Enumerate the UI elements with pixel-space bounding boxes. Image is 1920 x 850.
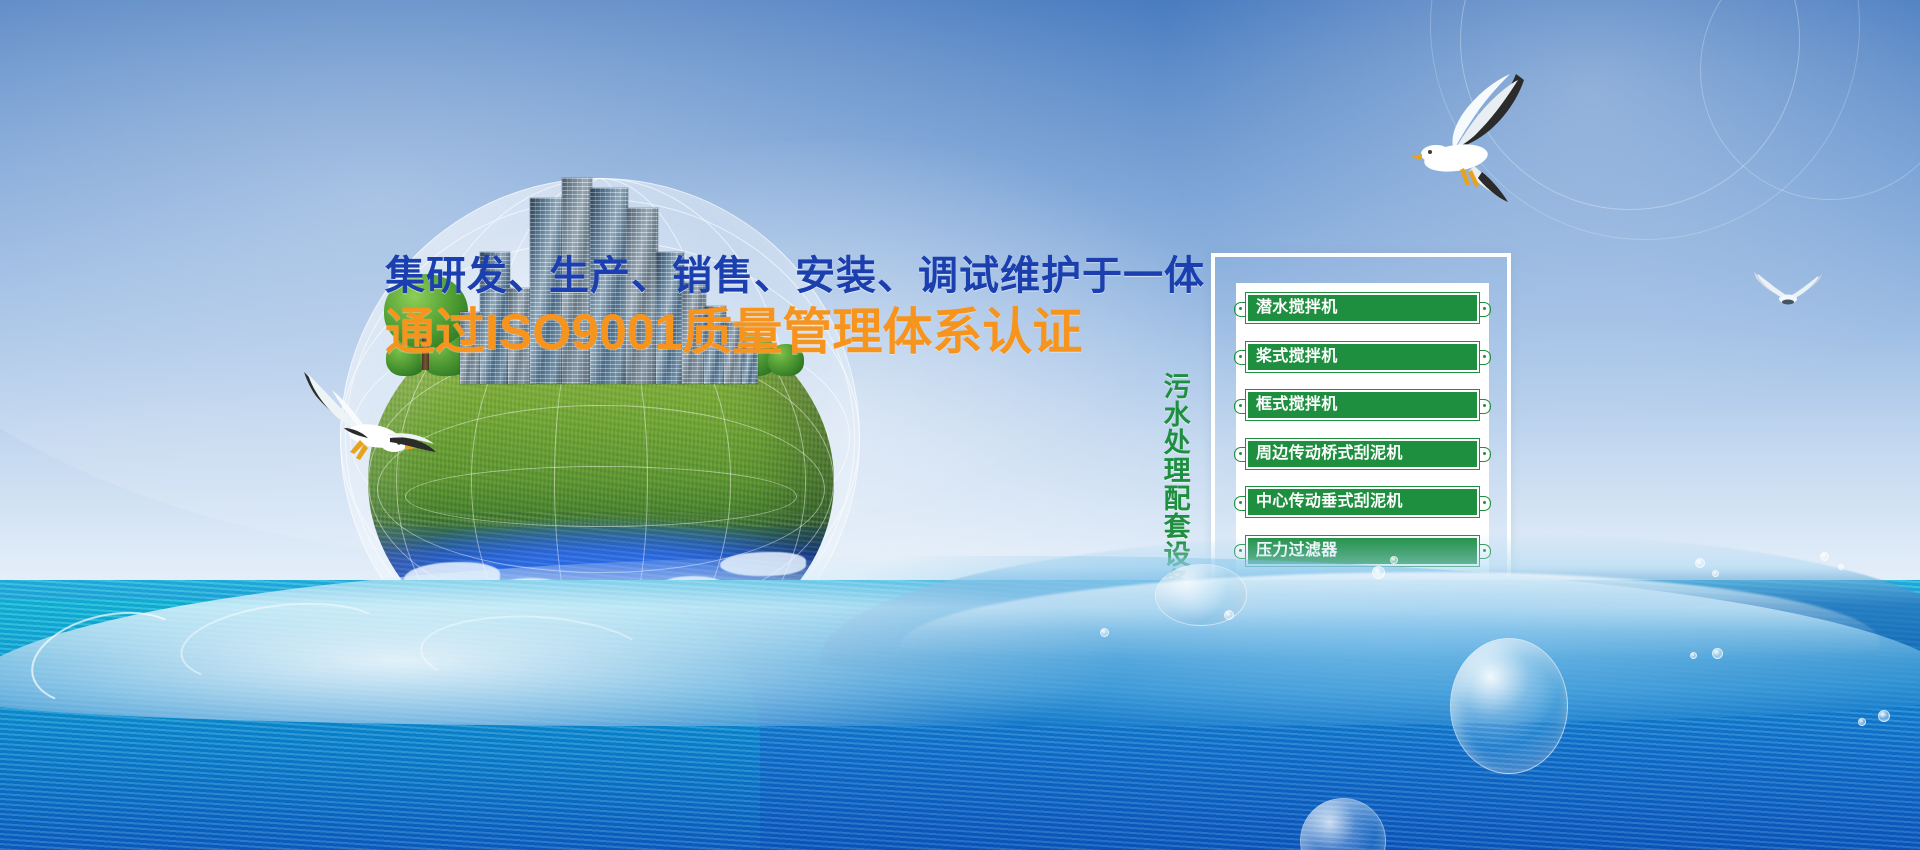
tab-dot-right-icon — [1483, 355, 1486, 358]
tab-dot-right-icon — [1483, 404, 1486, 407]
tab-dot-left-icon — [1239, 307, 1242, 310]
bubble-small-8 — [1838, 564, 1844, 570]
product-button-label: 框式搅拌机 — [1246, 397, 1338, 413]
tab-dot-right-icon — [1483, 452, 1486, 455]
product-button-label: 中心传动垂式刮泥机 — [1246, 494, 1403, 510]
bubble-small-2 — [1390, 556, 1398, 564]
product-button-zhongxin-guanniji[interactable]: 中心传动垂式刮泥机 — [1245, 486, 1480, 518]
bubble-small-12 — [1224, 610, 1234, 620]
headline-line-1: 集研发、生产、销售、安装、调试维护于一体 — [385, 252, 1205, 301]
bubble-small-1 — [1372, 566, 1385, 579]
tab-dot-left-icon — [1239, 355, 1242, 358]
product-button-label: 潜水搅拌机 — [1246, 300, 1338, 316]
bubble-small-4 — [1712, 570, 1719, 577]
bubble-small-11 — [1100, 628, 1109, 637]
seagull-top-right-icon — [1378, 54, 1543, 204]
product-button-kuangshi-jiaobanji[interactable]: 框式搅拌机 — [1245, 389, 1480, 421]
banner-stage: 集研发、生产、销售、安装、调试维护于一体 通过ISO9001质量管理体系认证 污… — [0, 0, 1920, 850]
product-button-label: 桨式搅拌机 — [1246, 349, 1338, 365]
headline-block: 集研发、生产、销售、安装、调试维护于一体 通过ISO9001质量管理体系认证 — [385, 252, 1205, 362]
seagull-far-right-icon — [1752, 268, 1824, 320]
bubble-small-3 — [1695, 558, 1705, 568]
tab-dot-left-icon — [1239, 501, 1242, 504]
product-button-zhoubian-guanniji[interactable]: 周边传动桥式刮泥机 — [1245, 438, 1480, 470]
seagull-left-icon — [298, 364, 438, 482]
bubble-small-10 — [1858, 718, 1866, 726]
tab-dot-left-icon — [1239, 452, 1242, 455]
bubble-small-7 — [1820, 552, 1829, 561]
product-button-label: 周边传动桥式刮泥机 — [1246, 446, 1403, 462]
tab-dot-right-icon — [1483, 307, 1486, 310]
bubble-small-6 — [1690, 652, 1697, 659]
bubble-small-5 — [1712, 648, 1723, 659]
water-scene — [0, 520, 1920, 850]
product-button-qianshui-jiaobanji[interactable]: 潜水搅拌机 — [1245, 292, 1480, 324]
headline-line-2: 通过ISO9001质量管理体系认证 — [385, 303, 1205, 362]
bubble-large-1 — [1450, 638, 1568, 774]
tab-dot-right-icon — [1483, 501, 1486, 504]
bubble-small-9 — [1878, 710, 1890, 722]
tab-dot-left-icon — [1239, 404, 1242, 407]
product-button-jiangshi-jiaobanji[interactable]: 桨式搅拌机 — [1245, 341, 1480, 373]
